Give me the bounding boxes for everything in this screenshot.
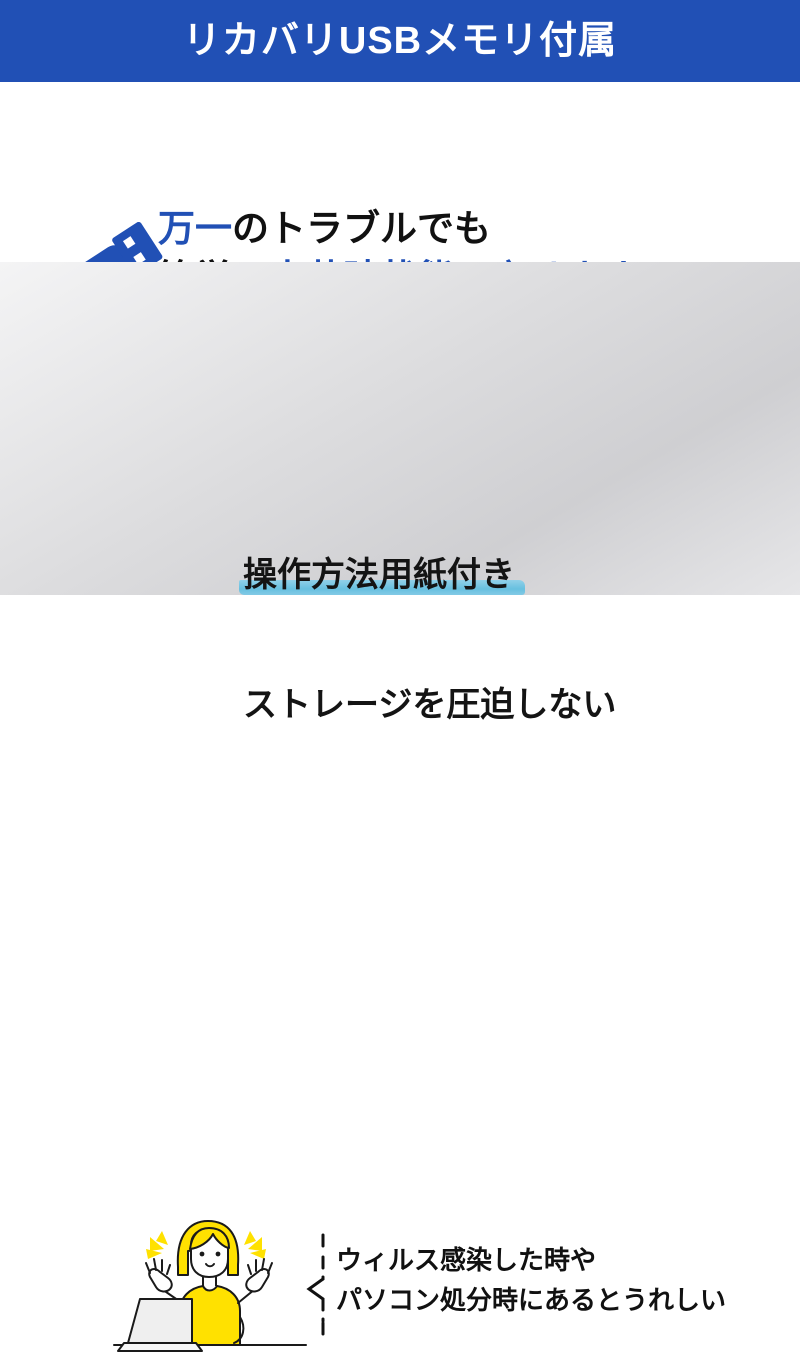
banner-title: リカバリUSBメモリ付属: [183, 22, 617, 60]
hero-line1-rest: のトラブルでも: [232, 208, 491, 249]
header-banner: リカバリUSBメモリ付属: [0, 0, 800, 82]
features-section: 操作方法用紙付き 用紙が付属するので初心者でも簡単に 初期化作業が可能です。 ス…: [0, 262, 800, 595]
dashed-brace: [297, 1233, 337, 1345]
hero-section: 万一のトラブルでも 簡単に出荷時状態に戻せます: [0, 82, 800, 262]
hero-line-1: 万一のトラブルでも: [158, 204, 778, 254]
bottom-caption-line-2: パソコン処分時にあるとうれしい: [336, 1280, 726, 1320]
bottom-caption: ウィルス感染した時や パソコン処分時にあるとうれしい: [336, 1240, 726, 1320]
promo-page: リカバリUSBメモリ付属 万一のトラブルでも 簡単に出荷時状態に戻せます: [0, 0, 800, 800]
feature-2-heading: ストレージを圧迫しない: [243, 686, 616, 724]
bottom-caption-line-1: ウィルス感染した時や: [336, 1240, 726, 1280]
hero-line1-highlight: 万一: [158, 208, 232, 249]
woman-with-laptop-illustration: [110, 1207, 310, 1367]
feature-1-heading: 操作方法用紙付き: [243, 556, 515, 594]
